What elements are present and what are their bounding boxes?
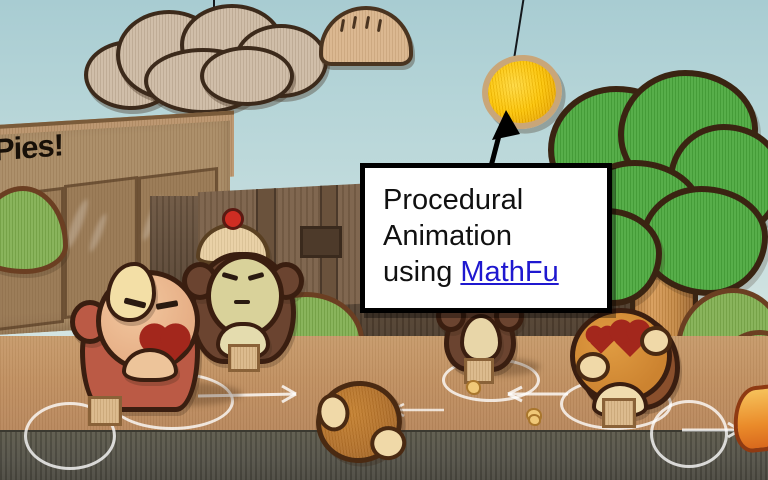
callout-line-3-prefix: using: [383, 256, 460, 288]
wall-window: [300, 226, 342, 258]
cherry-icon: [222, 208, 244, 230]
chalk-arrow: [500, 380, 570, 410]
cardboard-cloud: [84, 2, 334, 108]
callout-line-2: Animation: [365, 218, 607, 254]
character-base: [228, 344, 260, 372]
mathfu-link[interactable]: MathFu: [460, 256, 558, 288]
character-cheek: [576, 352, 610, 382]
character-mouth: [234, 300, 250, 304]
callout-text-box: Procedural Animation using MathFu: [360, 163, 612, 313]
callout-line-3: using MathFu: [365, 254, 607, 290]
character-cheek: [640, 326, 672, 356]
game-screenshot: Pies!: [0, 0, 768, 480]
crumb: [466, 380, 481, 395]
crumb: [528, 414, 541, 426]
callout-line-1: Procedural: [365, 168, 607, 218]
character-base: [88, 396, 122, 426]
character-base: [602, 398, 636, 428]
